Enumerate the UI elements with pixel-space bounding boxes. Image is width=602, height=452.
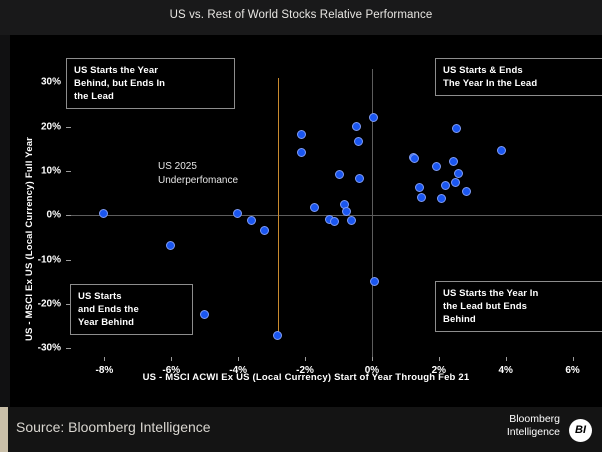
- scatter-point: [233, 209, 242, 218]
- scatter-point: [415, 183, 424, 192]
- x-tick: [104, 357, 105, 361]
- annotation-us-2025: US 2025 Underperfomance: [158, 160, 238, 187]
- scatter-point: [417, 193, 426, 202]
- scatter-point: [354, 137, 363, 146]
- annotation-bottom-right: US Starts the Year In the Lead but Ends …: [435, 281, 602, 332]
- scatter-point: [335, 170, 344, 179]
- scatter-point: [454, 169, 463, 178]
- scatter-point: [297, 130, 306, 139]
- scatter-point: [355, 174, 364, 183]
- scatter-point: [437, 194, 446, 203]
- y-tick-label: 30%: [41, 77, 61, 88]
- y-tick: [66, 260, 71, 261]
- annotation-top-left: US Starts the Year Behind, but Ends In t…: [66, 58, 235, 109]
- chart-screenshot: US vs. Rest of World Stocks Relative Per…: [0, 0, 602, 452]
- y-tick-label: -10%: [38, 254, 61, 265]
- brand-line-1: Bloomberg: [507, 413, 560, 426]
- x-tick: [305, 357, 306, 361]
- y-tick-label: 0%: [47, 210, 61, 221]
- y-tick: [66, 215, 71, 216]
- x-tick: [506, 357, 507, 361]
- x-axis-title: US - MSCI ACWI Ex US (Local Currency) St…: [10, 372, 602, 383]
- scatter-point: [273, 331, 282, 340]
- y-tick-label: -20%: [38, 298, 61, 309]
- scatter-point: [462, 187, 471, 196]
- x-tick: [372, 357, 373, 361]
- scatter-point: [330, 217, 339, 226]
- scatter-point: [432, 162, 441, 171]
- zero-horizontal-line: [71, 215, 602, 216]
- page-title: US vs. Rest of World Stocks Relative Per…: [0, 9, 602, 21]
- y-axis-title: US - MSCI Ex US (Local Currency) Full Ye…: [24, 137, 35, 341]
- y-tick-label: 10%: [41, 165, 61, 176]
- bi-logo-icon: BI: [569, 419, 592, 442]
- y-tick-label: 20%: [41, 121, 61, 132]
- scatter-point: [99, 209, 108, 218]
- scatter-point: [449, 157, 458, 166]
- scatter-point: [200, 310, 209, 319]
- scatter-point: [310, 203, 319, 212]
- y-tick: [66, 127, 71, 128]
- scatter-point: [497, 146, 506, 155]
- source-text: Source: Bloomberg Intelligence: [16, 419, 211, 435]
- scatter-point: [347, 216, 356, 225]
- scatter-point: [370, 277, 379, 286]
- scatter-point: [369, 113, 378, 122]
- chart-canvas: 30%20%10%0%-10%-20%-30%-8%-6%-4%-2%0%2%4…: [10, 35, 602, 407]
- scatter-point: [166, 241, 175, 250]
- x-tick: [439, 357, 440, 361]
- scatter-point: [441, 181, 450, 190]
- scatter-point: [247, 216, 256, 225]
- bloomberg-intelligence-wordmark: Bloomberg Intelligence: [507, 413, 560, 438]
- scatter-point: [260, 226, 269, 235]
- y-tick: [66, 171, 71, 172]
- y-tick-label: -30%: [38, 343, 61, 354]
- scatter-point: [352, 122, 361, 131]
- scatter-point: [452, 124, 461, 133]
- annotation-top-right: US Starts & Ends The Year In the Lead: [435, 58, 602, 96]
- annotation-bottom-left: US Starts and Ends the Year Behind: [70, 284, 193, 335]
- scatter-point: [451, 178, 460, 187]
- brand-line-2: Intelligence: [507, 426, 560, 439]
- us-2025-marker-line: [278, 78, 279, 335]
- x-tick: [171, 357, 172, 361]
- scatter-point: [410, 154, 419, 163]
- x-tick: [238, 357, 239, 361]
- scatter-point: [342, 207, 351, 216]
- x-tick: [573, 357, 574, 361]
- footer-accent-stripe: [0, 407, 8, 452]
- scatter-point: [297, 148, 306, 157]
- header-bar: US vs. Rest of World Stocks Relative Per…: [0, 0, 602, 35]
- y-tick: [66, 348, 71, 349]
